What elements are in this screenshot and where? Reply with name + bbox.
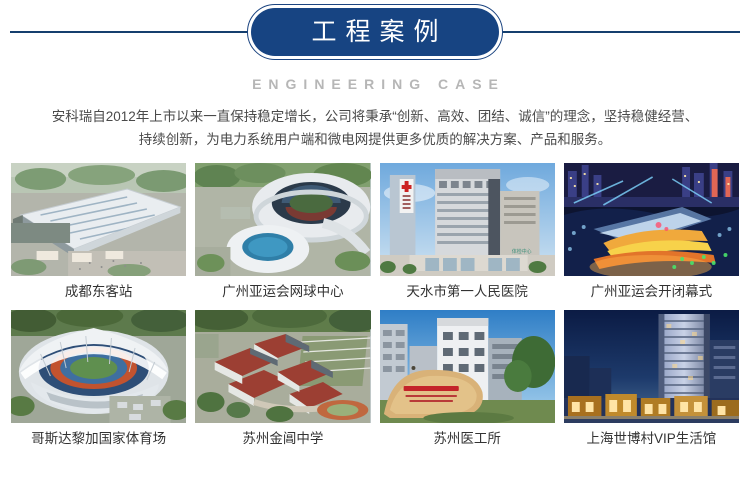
guangzhou-asian-games-tennis-center-photo[interactable] — [195, 163, 370, 276]
case-card[interactable]: 苏州金阊中学 — [195, 310, 370, 456]
case-caption: 天水市第一人民医院 — [380, 276, 555, 309]
case-card[interactable]: 体检中心 天水市第一人民医院 — [380, 163, 555, 309]
case-grid: 成都东客站 — [0, 163, 750, 455]
chengdu-east-railway-station-photo[interactable] — [11, 163, 186, 276]
case-caption: 广州亚运会开闭幕式 — [564, 276, 739, 309]
page-title: 工程案例 — [302, 20, 447, 45]
case-caption: 广州亚运会网球中心 — [195, 276, 370, 309]
shanghai-expo-village-vip-club-photo[interactable] — [564, 310, 739, 423]
title-badge: 工程案例 — [247, 4, 503, 60]
suzhou-institute-of-biomedical-engineering-photo[interactable] — [380, 310, 555, 423]
case-caption: 苏州金阊中学 — [195, 423, 370, 456]
case-card[interactable]: 苏州医工所 — [380, 310, 555, 456]
case-caption: 苏州医工所 — [380, 423, 555, 456]
tianshui-first-peoples-hospital-photo[interactable]: 体检中心 — [380, 163, 555, 276]
case-caption: 上海世博村VIP生活馆 — [564, 423, 739, 456]
engineering-case-section: 工程案例 ENGINEERING CASE 安科瑞自2012年上市以来一直保持稳… — [0, 0, 750, 477]
intro-paragraph: 安科瑞自2012年上市以来一直保持稳定增长，公司将秉承“创新、高效、团结、诚信”… — [12, 105, 738, 151]
svg-text:体检中心: 体检中心 — [511, 248, 531, 255]
title-badge-fill: 工程案例 — [251, 8, 499, 56]
case-card[interactable]: 成都东客站 — [11, 163, 186, 309]
intro-line-1: 安科瑞自2012年上市以来一直保持稳定增长，公司将秉承“创新、高效、团结、诚信”… — [52, 109, 699, 124]
suzhou-jinchang-middle-school-photo[interactable] — [195, 310, 370, 423]
intro-line-2: 持续创新，为电力系统用户端和微电网提供更多优质的解决方案、产品和服务。 — [12, 128, 738, 151]
guangzhou-asian-games-ceremony-night-photo[interactable] — [564, 163, 739, 276]
case-card[interactable]: 上海世博村VIP生活馆 — [564, 310, 739, 456]
case-card[interactable]: 广州亚运会网球中心 — [195, 163, 370, 309]
case-caption: 成都东客站 — [11, 276, 186, 309]
section-subtitle: ENGINEERING CASE — [0, 76, 750, 92]
case-card[interactable]: 广州亚运会开闭幕式 — [564, 163, 739, 309]
section-header: 工程案例 — [0, 0, 750, 72]
case-caption: 哥斯达黎加国家体育场 — [11, 423, 186, 456]
costa-rica-national-stadium-photo[interactable] — [11, 310, 186, 423]
case-card[interactable]: 哥斯达黎加国家体育场 — [11, 310, 186, 456]
